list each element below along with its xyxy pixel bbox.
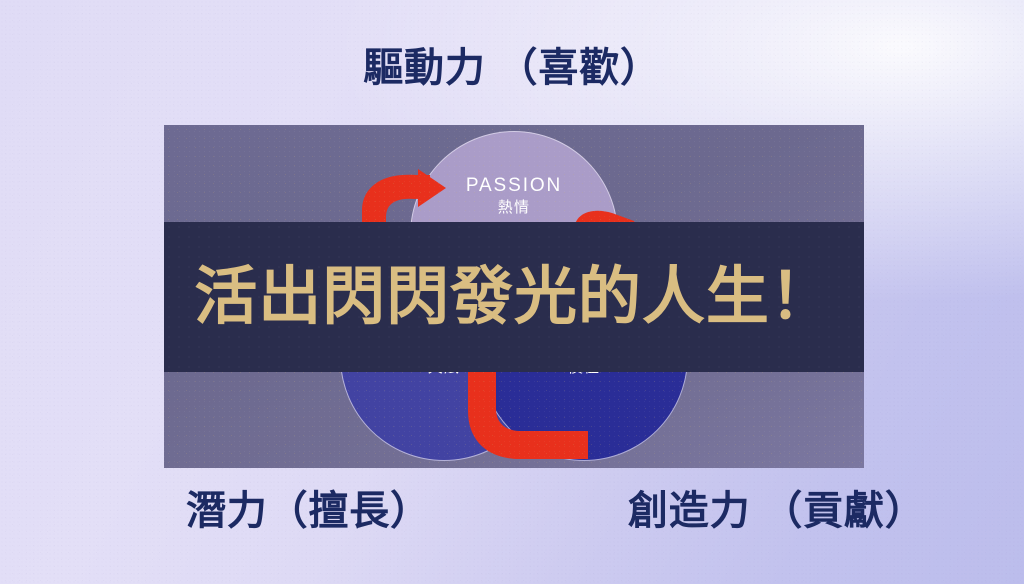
caption-bottom-right: 創造力 （貢獻） bbox=[628, 489, 926, 533]
title-banner: 活出閃閃發光的人生！ bbox=[164, 222, 864, 372]
caption-top: 驅動力 （喜歡） bbox=[0, 46, 1024, 90]
slide-canvas: 驅動力 （喜歡） PASSION 熱情 天賦 價值 活出閃閃發光 bbox=[0, 0, 1024, 584]
arrow-clockwise-bottom-icon bbox=[464, 361, 592, 461]
caption-bottom-left: 潛力（擅長） bbox=[186, 489, 431, 533]
banner-headline: 活出閃閃發光的人生！ bbox=[194, 263, 833, 331]
